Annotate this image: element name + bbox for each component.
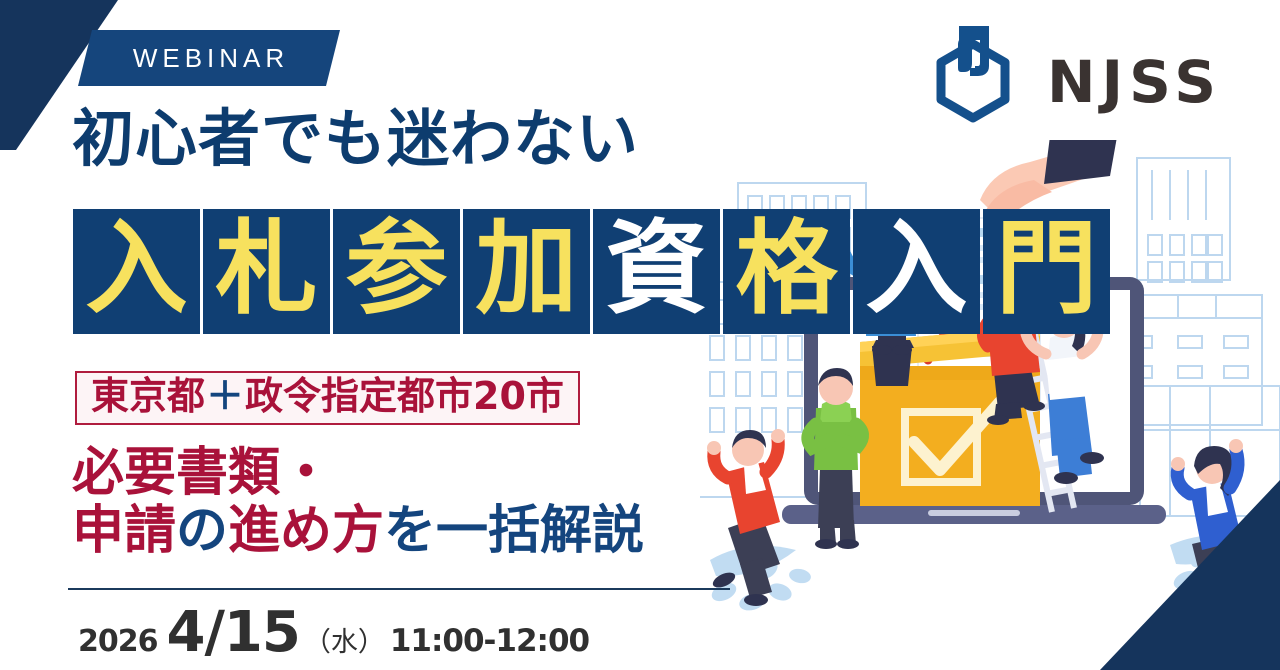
webinar-badge-label: WEBINAR: [78, 30, 340, 86]
title-box-char: 加: [476, 219, 578, 321]
title-box-char: 入: [866, 219, 968, 321]
title-box-char: 参: [346, 219, 448, 321]
subheadline-seg: の: [176, 501, 228, 561]
title-box: 加: [463, 209, 590, 334]
subheadline-seg: 申請: [72, 501, 176, 561]
subheadline: 必要書類・ 申請の進め方を一括解説: [72, 444, 644, 560]
page-headline: 初心者でも迷わない: [72, 108, 639, 170]
scope-plus-sign: ＋: [205, 377, 245, 417]
scope-highlight-box: 東京都 ＋ 政令指定都市20市: [75, 371, 580, 425]
event-time: 11:00-12:00: [385, 623, 589, 659]
title-box-row: 入 札 参 加 資 格 入 門: [73, 209, 1110, 334]
title-box: 資: [593, 209, 720, 334]
person-blue-blazer-jumping: [1171, 439, 1243, 626]
title-box: 札: [203, 209, 330, 334]
title-box-char: 資: [606, 219, 708, 321]
title-box: 参: [333, 209, 460, 334]
scope-part-2: 政令指定都市20市: [245, 377, 564, 417]
title-box: 格: [723, 209, 850, 334]
title-box: 門: [983, 209, 1110, 334]
event-day-of-week: （水）: [304, 620, 385, 659]
njss-hexagon-icon: [941, 28, 1005, 118]
person-red-jacket-jumping: [707, 429, 785, 606]
subheadline-seg: 必要書類・: [72, 443, 332, 503]
webinar-banner: WEBINAR 初心者でも迷わない 入 札 参 加 資 格 入 門 東京都 ＋ …: [0, 0, 1280, 670]
horizontal-divider: [68, 588, 730, 590]
subheadline-line-2: 申請の進め方を一括解説: [72, 502, 644, 560]
njss-wordmark: NJSS: [1047, 48, 1222, 116]
title-box-char: 門: [996, 219, 1098, 321]
event-month-day: 4/15: [158, 600, 304, 665]
title-box-char: 入: [86, 219, 188, 321]
title-box-char: 札: [216, 219, 318, 321]
title-box: 入: [73, 209, 200, 334]
subheadline-line-1: 必要書類・: [72, 444, 644, 502]
scope-part-1: 東京都: [91, 377, 205, 417]
njss-logo: NJSS: [927, 22, 1222, 127]
subheadline-seg: 進め方: [228, 501, 384, 561]
event-year: 2026: [78, 624, 158, 659]
title-box: 入: [853, 209, 980, 334]
subheadline-seg: を一括解説: [384, 501, 644, 561]
title-box-char: 格: [736, 219, 838, 321]
event-datetime: 2026 4/15 （水） 11:00-12:00: [78, 600, 589, 665]
webinar-badge: WEBINAR: [78, 30, 340, 86]
